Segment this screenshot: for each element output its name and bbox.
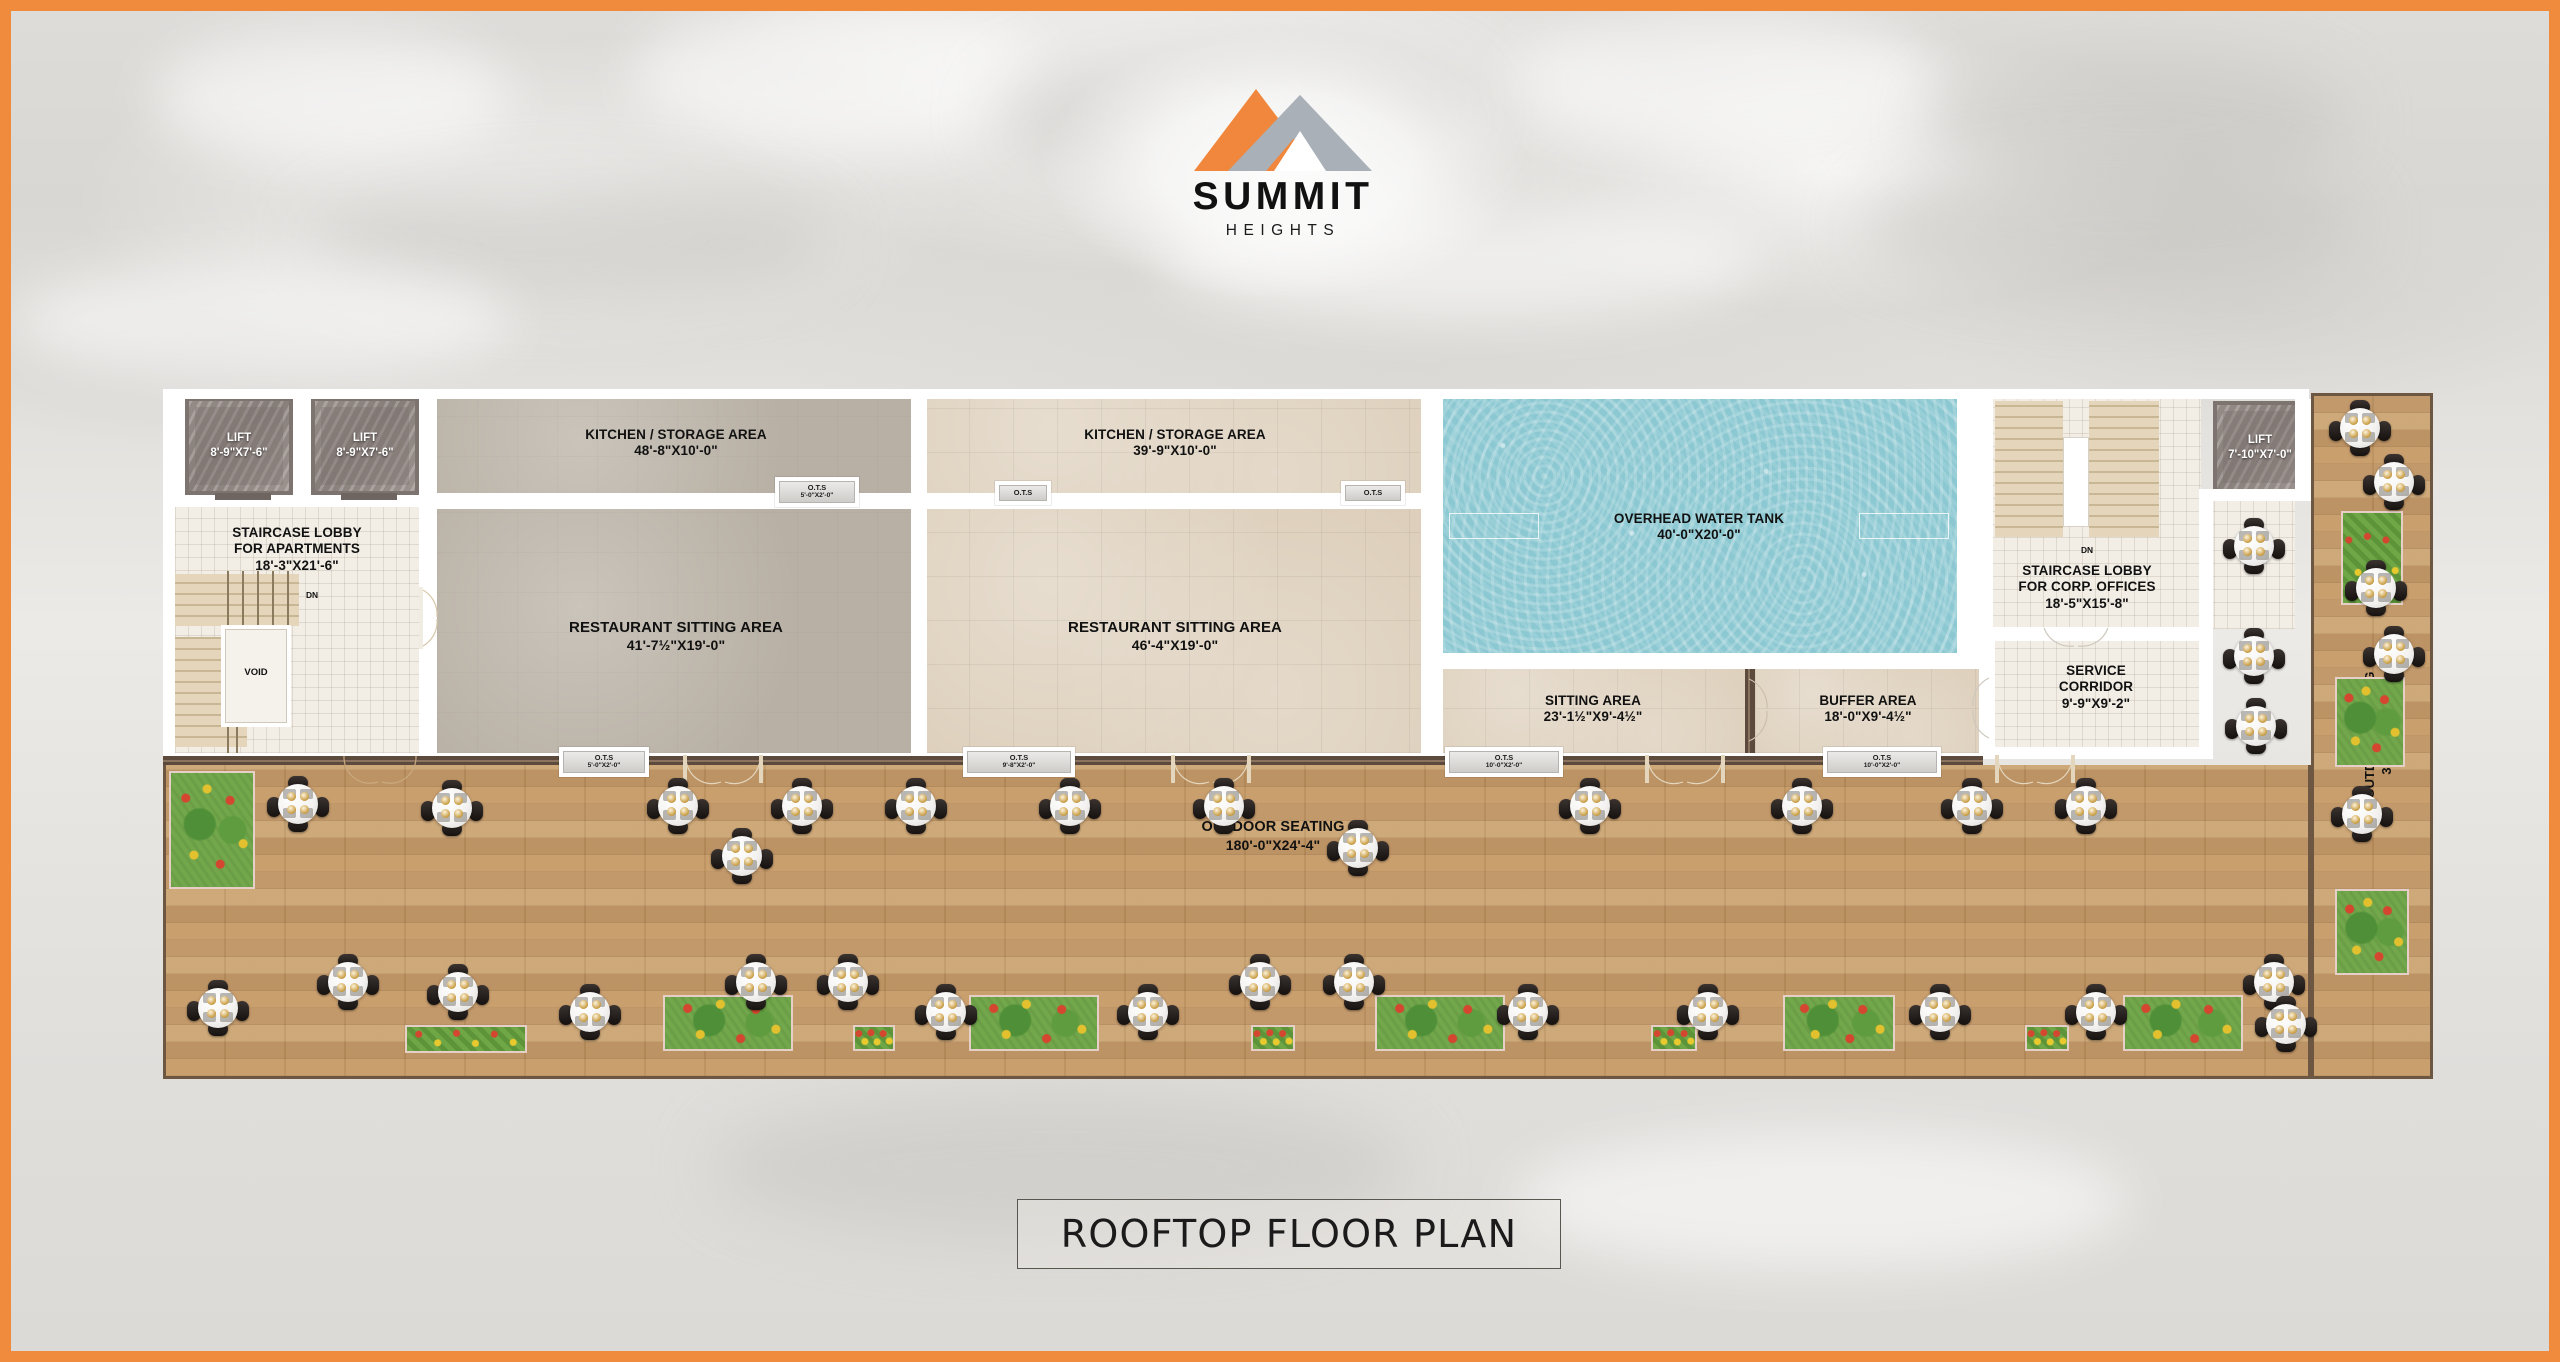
dining-table bbox=[2227, 629, 2281, 683]
planter-b1 bbox=[405, 1025, 527, 1053]
label-buffer-area: BUFFER AREA 18'-0"X9'-4½" bbox=[1755, 693, 1981, 726]
stair-marker-dn-right: DN bbox=[2081, 545, 2093, 555]
dining-table bbox=[821, 955, 875, 1009]
logo-tagline: HEIGHTS bbox=[1163, 222, 1403, 240]
corp-stair-rail bbox=[2063, 437, 2089, 527]
wall-top-strip bbox=[163, 389, 2309, 399]
dining-table bbox=[1945, 779, 1999, 833]
planter-b10 bbox=[2123, 995, 2243, 1051]
door-sitting-buffer bbox=[1745, 675, 1769, 745]
corp-stair-right bbox=[2089, 401, 2159, 537]
room-void: VOID bbox=[221, 625, 291, 727]
dining-table bbox=[1233, 955, 1287, 1009]
planter-b3 bbox=[853, 1025, 895, 1051]
label-sitting-area: SITTING AREA 23'-1½"X9'-4½" bbox=[1441, 693, 1745, 726]
stair-marker-dn-left: DN bbox=[306, 590, 318, 600]
dining-table bbox=[563, 985, 617, 1039]
room-lift-2: LIFT 8'-9"X7'-6" bbox=[311, 397, 419, 495]
room-staircase-lobby-apartments: VOID STAIRCASE LOBBY FOR APARTMENTS 18'-… bbox=[175, 507, 419, 753]
void-label: VOID bbox=[225, 667, 287, 678]
label-restaurant-sitting-2: RESTAURANT SITTING AREA 46'-4"X19'-0" bbox=[925, 619, 1425, 654]
ots-south-1: O.T.S5'-0"X2'-0" bbox=[559, 747, 649, 777]
cloud-backdrop: SUMMIT HEIGHTS LIFT 8'-9"X7'-6" LIF bbox=[11, 11, 2549, 1351]
plan-title: ROOFTOP FLOOR PLAN bbox=[1061, 1212, 1518, 1256]
dining-table bbox=[1913, 985, 1967, 1039]
label-service-corridor: SERVICE CORRIDOR 9'-9"X9'-2" bbox=[1991, 663, 2201, 712]
dining-table bbox=[191, 981, 245, 1035]
door-lobby-restaurant bbox=[419, 587, 439, 649]
ots-kitchen2-a: O.T.S bbox=[1341, 481, 1405, 505]
door-lobby-deck bbox=[341, 755, 419, 785]
brand-logo: SUMMIT HEIGHTS bbox=[1163, 89, 1403, 224]
wall-notch-corp-right bbox=[2295, 399, 2311, 499]
dining-table bbox=[1197, 779, 1251, 833]
dining-table bbox=[2367, 627, 2421, 681]
ots-south-3: O.T.S10'-0"X2'-0" bbox=[1445, 747, 1563, 777]
dining-table bbox=[1121, 985, 1175, 1039]
dining-table bbox=[775, 779, 829, 833]
tank-hatch-left bbox=[1449, 513, 1539, 539]
planter-b9 bbox=[2025, 1025, 2069, 1051]
page-frame: SUMMIT HEIGHTS LIFT 8'-9"X7'-6" LIF bbox=[0, 0, 2560, 1362]
dining-table bbox=[729, 955, 783, 1009]
planter-b8 bbox=[1783, 995, 1895, 1051]
plan-title-box: ROOFTOP FLOOR PLAN bbox=[1017, 1199, 1561, 1269]
room-lift-3: LIFT 7'-10"X7'-0" bbox=[2213, 401, 2307, 493]
room-sitting-area: SITTING AREA 23'-1½"X9'-4½" bbox=[1441, 667, 1745, 753]
planter-right-3 bbox=[2335, 889, 2409, 975]
dining-table bbox=[2335, 787, 2389, 841]
dining-table bbox=[1327, 955, 1381, 1009]
label-restaurant-sitting-1: RESTAURANT SITTING AREA 41'-7½"X19'-0" bbox=[437, 619, 915, 654]
dining-table bbox=[1331, 821, 1385, 875]
ots-kitchen1-a: O.T.S5'-0"X2'-0" bbox=[775, 477, 859, 507]
dining-table bbox=[1681, 985, 1735, 1039]
dining-table bbox=[1501, 985, 1555, 1039]
dining-table bbox=[2349, 561, 2403, 615]
planter-left-tall bbox=[169, 771, 255, 889]
tank-hatch-right bbox=[1859, 513, 1949, 539]
room-lift-1: LIFT 8'-9"X7'-6" bbox=[185, 397, 293, 495]
wall-vert-kitchen2-tank bbox=[1421, 389, 1443, 755]
floor-plan: LIFT 8'-9"X7'-6" LIFT 8'-9"X7'-6" bbox=[163, 389, 2433, 1079]
lift-1-label: LIFT 8'-9"X7'-6" bbox=[189, 431, 289, 461]
dining-table bbox=[271, 777, 325, 831]
dining-table bbox=[715, 829, 769, 883]
dining-table bbox=[2367, 455, 2421, 509]
ots-south-4: O.T.S10'-0"X2'-0" bbox=[1823, 747, 1941, 777]
wall-vert-kitchen1-kitchen2 bbox=[911, 389, 927, 755]
dining-table bbox=[889, 779, 943, 833]
label-staircase-lobby-apartments: STAIRCASE LOBBY FOR APARTMENTS 18'-3"X21… bbox=[175, 525, 419, 574]
door-deck-entry-3 bbox=[1645, 755, 1725, 785]
ots-kitchen1-b: O.T.S bbox=[995, 481, 1051, 505]
wall-left-strip bbox=[163, 389, 175, 757]
label-kitchen-storage-2: KITCHEN / STORAGE AREA 39'-9"X10'-0" bbox=[925, 427, 1425, 460]
dining-table bbox=[2259, 997, 2313, 1051]
dining-table bbox=[321, 955, 375, 1009]
dining-table bbox=[425, 781, 479, 835]
planter-b5 bbox=[1251, 1025, 1295, 1051]
dining-table bbox=[1563, 779, 1617, 833]
dining-table bbox=[2069, 985, 2123, 1039]
room-restaurant-sitting-2: RESTAURANT SITTING AREA 46'-4"X19'-0" bbox=[925, 507, 1425, 753]
dining-table bbox=[1043, 779, 1097, 833]
dining-table bbox=[2227, 519, 2281, 573]
wall-vert-lobby-kitchen bbox=[419, 389, 437, 755]
door-corp-lobby-service bbox=[2041, 625, 2111, 649]
dining-table bbox=[2229, 699, 2283, 753]
dining-table bbox=[1775, 779, 1829, 833]
planter-right-2 bbox=[2335, 677, 2405, 767]
wall-right-corp bbox=[2199, 489, 2213, 757]
dining-table bbox=[919, 985, 973, 1039]
room-restaurant-sitting-1: RESTAURANT SITTING AREA 41'-7½"X19'-0" bbox=[437, 507, 915, 753]
room-buffer-area: BUFFER AREA 18'-0"X9'-4½" bbox=[1755, 667, 1981, 753]
planter-b6 bbox=[1375, 995, 1505, 1051]
dining-table bbox=[2059, 779, 2113, 833]
lift-3-label: LIFT 7'-10"X7'-0" bbox=[2217, 433, 2303, 463]
room-overhead-water-tank: OVERHEAD WATER TANK 40'-0"X20'-0" bbox=[1441, 399, 1957, 657]
wall-vert-tank-corplobby bbox=[1957, 389, 1993, 657]
lift-2-label: LIFT 8'-9"X7'-6" bbox=[315, 431, 415, 461]
room-staircase-lobby-corp: DN STAIRCASE LOBBY FOR CORP. OFFICES 18'… bbox=[1991, 399, 2201, 629]
door-service-corridor-west bbox=[1969, 675, 1993, 741]
wall-tank-bottom bbox=[1431, 653, 1983, 669]
ots-south-2: O.T.S9'-8"X2'-0" bbox=[963, 747, 1075, 777]
label-staircase-lobby-corp: STAIRCASE LOBBY FOR CORP. OFFICES 18'-5"… bbox=[1987, 563, 2187, 612]
summit-mountain-icon bbox=[1194, 89, 1372, 171]
wall-notch-corp-bottom bbox=[2201, 489, 2311, 501]
room-service-corridor: SERVICE CORRIDOR 9'-9"X9'-2" bbox=[1991, 639, 2201, 753]
stair-rail-upper bbox=[227, 571, 301, 627]
label-kitchen-storage-1: KITCHEN / STORAGE AREA 48'-8"X10'-0" bbox=[437, 427, 915, 460]
dining-table bbox=[2333, 401, 2387, 455]
dining-table bbox=[651, 779, 705, 833]
planter-b4 bbox=[969, 995, 1099, 1051]
corp-stair-left bbox=[1995, 401, 2063, 537]
logo-wordmark: SUMMIT bbox=[1163, 177, 1403, 216]
dining-table bbox=[431, 965, 485, 1019]
